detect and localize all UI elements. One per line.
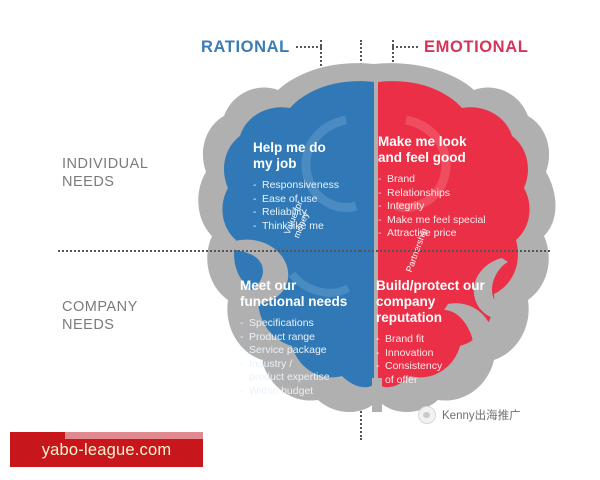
list-item: Think like me — [253, 220, 358, 234]
quadrant-emotional-company: Build/protect our company reputation Bra… — [376, 278, 496, 387]
footer-banner: yabo-league.com — [10, 432, 203, 467]
list-item: Product range — [240, 331, 355, 345]
footer-site-label: yabo-league.com — [10, 441, 203, 460]
quadrant-item-list: Responsiveness Ease of use Reliability T… — [253, 179, 358, 233]
footer-banner-accent-strip — [65, 432, 203, 439]
quadrant-title: Make me look and feel good — [378, 134, 498, 166]
quadrant-title: Build/protect our company reputation — [376, 278, 496, 326]
list-item: Ease of use — [253, 193, 358, 207]
watermark-text: Kenny出海推广 — [442, 407, 521, 423]
quadrant-title: Meet our functional needs — [240, 278, 355, 310]
individual-company-divider-left — [58, 250, 360, 252]
list-item: Relationships — [378, 187, 498, 201]
list-item: Within budget — [240, 385, 355, 399]
quadrant-item-list: Brand fit Innovation Consistency of offe… — [376, 333, 496, 387]
list-item: Specifications — [240, 317, 355, 331]
list-item: Brand fit — [376, 333, 496, 347]
watermark: Kenny出海推广 — [418, 406, 521, 424]
list-item: Make me feel special — [378, 214, 498, 228]
list-item: Service package — [240, 344, 355, 358]
list-item: Consistency of offer — [376, 360, 496, 387]
list-item: Integrity — [378, 200, 498, 214]
rational-header-label: RATIONAL — [201, 38, 290, 57]
emotional-connector-dotted-line — [392, 46, 418, 48]
quadrant-item-list: Specifications Product range Service pac… — [240, 317, 355, 399]
list-item: Reliability — [253, 206, 358, 220]
company-needs-label: COMPANY NEEDS — [62, 298, 138, 334]
individual-needs-label: INDIVIDUAL NEEDS — [62, 155, 148, 191]
list-item: Attractive price — [378, 227, 498, 241]
quadrant-rational-company: Meet our functional needs Specifications… — [240, 278, 355, 399]
list-item: Brand — [378, 173, 498, 187]
list-item: Responsiveness — [253, 179, 358, 193]
emotional-header-label: EMOTIONAL — [424, 38, 528, 57]
list-item: Industry / product expertise — [240, 358, 355, 385]
individual-company-divider-right — [360, 250, 550, 252]
rational-connector-dotted-line — [296, 46, 322, 48]
quadrant-rational-individual: Help me do my job Responsiveness Ease of… — [253, 140, 358, 233]
quadrant-title: Help me do my job — [253, 140, 358, 172]
quadrant-item-list: Brand Relationships Integrity Make me fe… — [378, 173, 498, 241]
circle-avatar-icon — [418, 406, 436, 424]
quadrant-emotional-individual: Make me look and feel good Brand Relatio… — [378, 134, 498, 241]
list-item: Innovation — [376, 347, 496, 361]
infographic-canvas: RATIONAL EMOTIONAL INDIVIDUAL NEEDS COMP… — [0, 0, 600, 480]
